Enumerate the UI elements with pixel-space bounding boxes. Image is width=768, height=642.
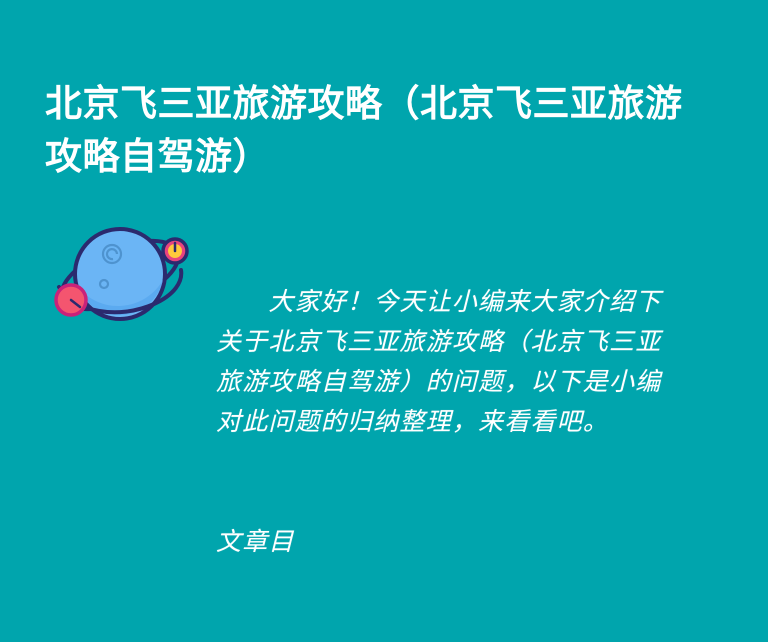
planet-with-orbit-icon [40,208,200,343]
article-body: 大家好！今天让小编来大家介绍下关于北京飞三亚旅游攻略（北京飞三亚旅游攻略自驾游）… [216,202,668,642]
article-toc-truncated: 文章目 [216,522,668,562]
moon-left [56,285,86,315]
article-page: 北京飞三亚旅游攻略（北京飞三亚旅游攻略自驾游） [0,0,768,510]
moon-right [163,239,187,263]
article-intro-paragraph: 大家好！今天让小编来大家介绍下关于北京飞三亚旅游攻略（北京飞三亚旅游攻略自驾游）… [216,282,668,442]
page-title: 北京飞三亚旅游攻略（北京飞三亚旅游攻略自驾游） [45,77,685,183]
